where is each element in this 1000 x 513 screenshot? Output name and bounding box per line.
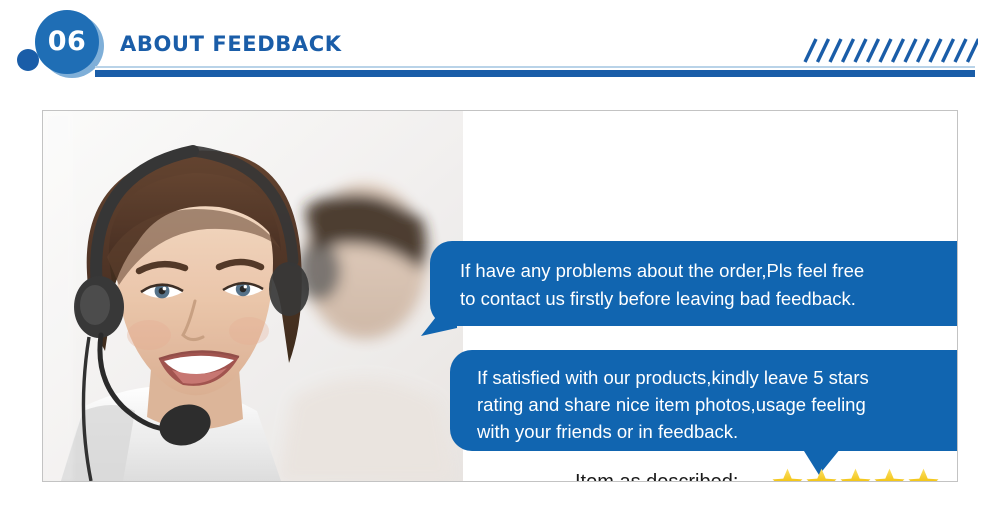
bubble-1-line-1: If have any problems about the order,Pls…	[460, 257, 955, 285]
rating-stars-item-as-described	[771, 467, 940, 483]
feedback-panel: If have any problems about the order,Pls…	[42, 110, 958, 482]
speech-bubble-order-problem: If have any problems about the order,Pls…	[430, 241, 958, 326]
star-icon	[907, 467, 940, 483]
bubble-1-line-2: to contact us firstly before leaving bad…	[460, 285, 955, 313]
bubble-2-line-3: with your friends or in feedback.	[477, 418, 958, 445]
bubble-2-line-2: rating and share nice item photos,usage …	[477, 391, 958, 418]
badge-number: 06	[35, 10, 99, 74]
star-icon	[873, 467, 906, 483]
section-header: 06 ABOUT FEEDBACK	[0, 0, 1000, 100]
star-icon	[771, 467, 804, 483]
rating-list: Item as described: Communication: Shippi…	[575, 461, 958, 482]
customer-service-agent-photo	[43, 111, 463, 481]
rating-label: Item as described:	[575, 471, 771, 482]
diagonal-stripes-decoration	[803, 36, 978, 63]
speech-bubble-order-problem-tail	[421, 296, 457, 336]
bubble-2-line-1: If satisfied with our products,kindly le…	[477, 364, 958, 391]
speech-bubble-leave-rating: If satisfied with our products,kindly le…	[450, 350, 958, 451]
rating-row-item-as-described: Item as described:	[575, 461, 958, 482]
star-icon	[805, 467, 838, 483]
header-rule-light	[95, 66, 975, 68]
header-rule-dark	[95, 70, 975, 77]
star-icon	[839, 467, 872, 483]
page-title: ABOUT FEEDBACK	[120, 32, 342, 56]
